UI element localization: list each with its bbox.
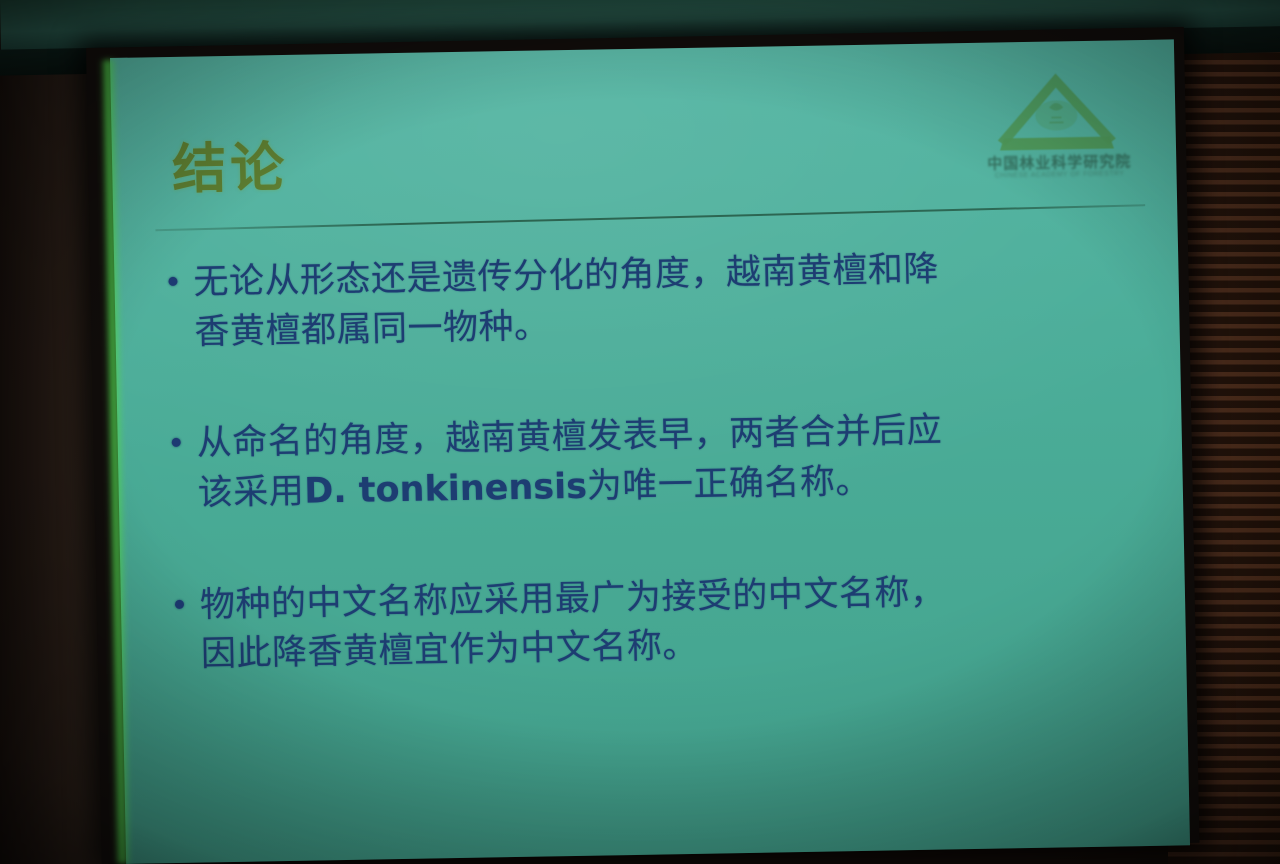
logo-triangle-icon [988,64,1124,158]
bullet-item: 无论从形态还是遗传分化的角度，越南黄檀和降 香黄檀都属同一物种。 [154,242,1141,359]
bullet-dot-icon [175,600,184,609]
logo-chinese-caption: 中国林业科学研究院 [984,150,1134,173]
bullet-line-suffix: 为唯一正确名称。 [587,462,872,507]
bullet-dot-icon [172,438,181,447]
projected-slide: 结论 中国林业科学研究院 CHINESE ACADEMY OF FORESTRY… [110,39,1190,863]
title-divider [155,204,1145,231]
slide-title: 结论 [172,141,289,197]
slide-body: 无论从形态还是遗传分化的角度，越南黄檀和降 香黄檀都属同一物种。 从命名的角度，… [154,236,1149,743]
room-photograph: 结论 中国林业科学研究院 CHINESE ACADEMY OF FORESTRY… [0,0,1280,864]
latin-species-name: D. tonkinensis [304,467,587,512]
bullet-item: 从命名的角度，越南黄檀发表早，两者合并后应 该采用D. tonkinensis为… [157,403,1144,520]
bullet-item: 物种的中文名称应采用最广为接受的中文名称， 因此降香黄檀宜作为中文名称。 [161,565,1148,682]
bullet-text: 无论从形态还是遗传分化的角度，越南黄檀和降 香黄檀都属同一物种。 [193,242,1141,358]
bullet-line-prefix: 该采用 [197,472,304,514]
bullet-text: 物种的中文名称应采用最广为接受的中文名称， 因此降香黄檀宜作为中文名称。 [200,565,1148,681]
bullet-text: 从命名的角度，越南黄檀发表早，两者合并后应 该采用D. tonkinensis为… [196,403,1144,519]
institute-logo: 中国林业科学研究院 CHINESE ACADEMY OF FORESTRY [988,64,1124,190]
logo-english-caption: CHINESE ACADEMY OF FORESTRY [984,170,1134,185]
bullet-dot-icon [168,277,177,286]
